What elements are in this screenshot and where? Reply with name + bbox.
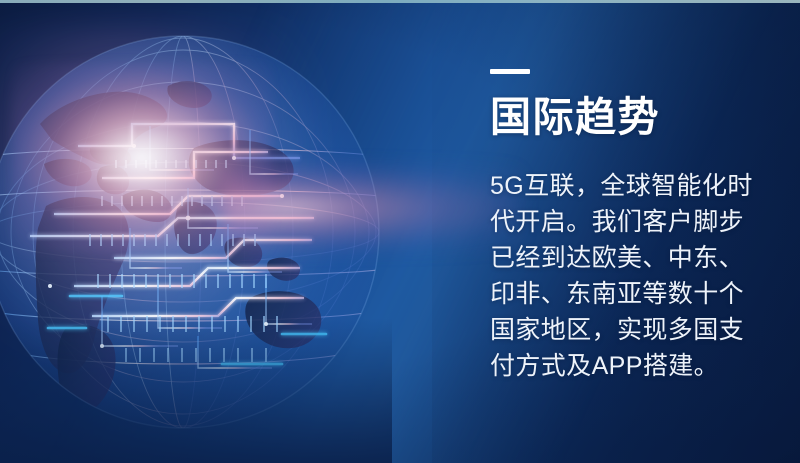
description-line: 代开启。我们客户脚步 (490, 204, 758, 240)
accent-bar (490, 69, 530, 74)
description-line: 已经到达欧美、中东、 (490, 240, 758, 276)
globe-icon (0, 28, 392, 438)
banner-description: 5G互联，全球智能化时 代开启。我们客户脚步 已经到达欧美、中东、 印非、东南亚… (490, 168, 758, 384)
digital-globe-graphic (0, 28, 392, 438)
banner-text-block: 国际趋势 5G互联，全球智能化时 代开启。我们客户脚步 已经到达欧美、中东、 印… (490, 60, 758, 384)
international-trend-banner: 国际趋势 5G互联，全球智能化时 代开启。我们客户脚步 已经到达欧美、中东、 印… (0, 0, 800, 463)
top-edge-strip (0, 0, 800, 3)
description-line: 5G互联，全球智能化时 (490, 168, 758, 204)
description-line: 付方式及APP搭建。 (490, 348, 758, 384)
description-line: 国家地区，实现多国支 (490, 312, 758, 348)
description-line: 印非、东南亚等数十个 (490, 276, 758, 312)
page-title: 国际趋势 (490, 96, 758, 139)
